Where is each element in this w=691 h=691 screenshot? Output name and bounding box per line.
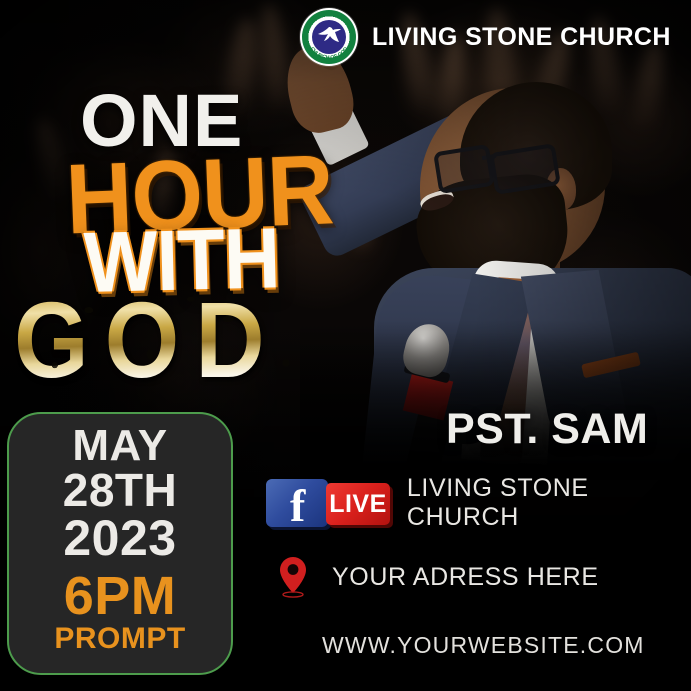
- event-time: 6PM: [64, 568, 177, 624]
- website-row[interactable]: WWW.YOURWEBSITE.COM: [322, 632, 645, 659]
- live-label: LIVE: [329, 490, 387, 519]
- facebook-channel-name: LIVING STONE CHURCH: [407, 474, 691, 532]
- facebook-f-glyph: f: [290, 483, 305, 529]
- speaker-name: PST. SAM: [446, 405, 648, 454]
- event-day: 28TH: [63, 467, 177, 513]
- facebook-live-badge[interactable]: f LIVE: [266, 477, 383, 529]
- event-date-card: MAY 28TH 2023 6PM PROMPT: [7, 412, 233, 675]
- flyer-header: THE REDEEMED CHRISTIAN CHURCH OF GOD LIV…: [300, 8, 671, 66]
- location-pin-icon: [278, 556, 308, 598]
- address-text: YOUR ADRESS HERE: [332, 563, 599, 592]
- church-name-header: LIVING STONE CHURCH: [372, 23, 671, 52]
- event-month: MAY: [72, 424, 167, 467]
- event-year: 2023: [63, 513, 176, 564]
- address-row: YOUR ADRESS HERE: [278, 556, 599, 598]
- facebook-live-row: f LIVE LIVING STONE CHURCH: [266, 474, 691, 532]
- website-url: WWW.YOURWEBSITE.COM: [322, 632, 645, 659]
- rccg-logo-icon: THE REDEEMED CHRISTIAN CHURCH OF GOD: [300, 8, 358, 66]
- event-flyer: THE REDEEMED CHRISTIAN CHURCH OF GOD LIV…: [0, 0, 691, 691]
- dove-icon: [312, 20, 346, 54]
- facebook-icon[interactable]: f: [266, 479, 328, 527]
- live-badge[interactable]: LIVE: [326, 483, 390, 525]
- title-line-god: GOD: [14, 279, 281, 402]
- event-time-note: PROMPT: [54, 624, 185, 654]
